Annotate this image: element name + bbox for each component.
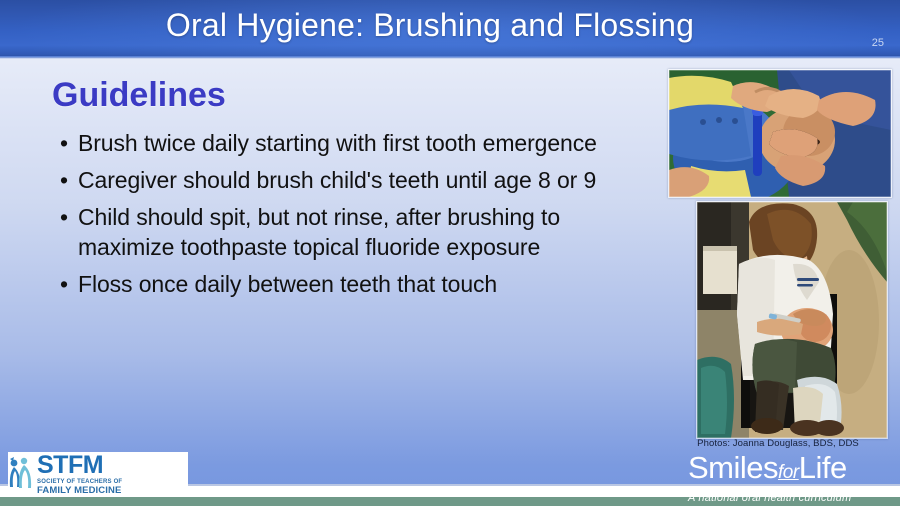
bullet-dot-icon: • [60,269,68,299]
sfl-word-for: for [778,462,799,483]
photo-clinician-examining-child-image [697,202,887,438]
stfm-tagline-line1: SOCIETY OF TEACHERS OF [37,479,122,485]
stfm-tagline-line2: FAMILY MEDICINE [37,486,122,496]
presentation-slide: Oral Hygiene: Brushing and Flossing 25 G… [0,0,900,506]
photo-clinician-examining-child [696,201,888,439]
stfm-figures-icon [8,457,34,491]
list-item-text: Brush twice daily starting with first to… [78,130,597,156]
bullet-dot-icon: • [60,128,68,158]
section-heading: Guidelines [52,76,226,115]
smiles-for-life-wordmark: SmilesforLife [688,452,888,488]
bullet-dot-icon: • [60,165,68,195]
header-underline [0,56,900,59]
stfm-text-block: STFM SOCIETY OF TEACHERS OF FAMILY MEDIC… [37,453,122,496]
list-item: • Brush twice daily starting with first … [56,128,646,158]
photo-caregiver-brushing-infant-image [669,70,891,197]
photo-credit: Photos: Joanna Douglass, BDS, DDS [660,438,896,449]
photo-caregiver-brushing-infant [668,69,892,198]
list-item: • Child should spit, but not rinse, afte… [56,202,646,262]
sfl-divider [688,489,886,490]
list-item-text: Child should spit, but not rinse, after … [78,204,560,260]
guidelines-bullet-list: • Brush twice daily starting with first … [56,128,646,306]
smiles-for-life-logo: SmilesforLife A national oral health cur… [688,452,888,498]
list-item-text: Floss once daily between teeth that touc… [78,271,497,297]
slide-number: 25 [872,37,884,49]
bullet-dot-icon: • [60,202,68,232]
page-title: Oral Hygiene: Brushing and Flossing [0,7,860,44]
list-item-text: Caregiver should brush child's teeth unt… [78,167,596,193]
sfl-word-life: Life [799,450,847,485]
list-item: • Caregiver should brush child's teeth u… [56,165,646,195]
sfl-tagline: A national oral health curriculum [688,492,888,504]
stfm-acronym: STFM [37,453,122,478]
list-item: • Floss once daily between teeth that to… [56,269,646,299]
sfl-word-smiles: Smiles [688,450,778,485]
stfm-logo: STFM SOCIETY OF TEACHERS OF FAMILY MEDIC… [8,452,188,496]
